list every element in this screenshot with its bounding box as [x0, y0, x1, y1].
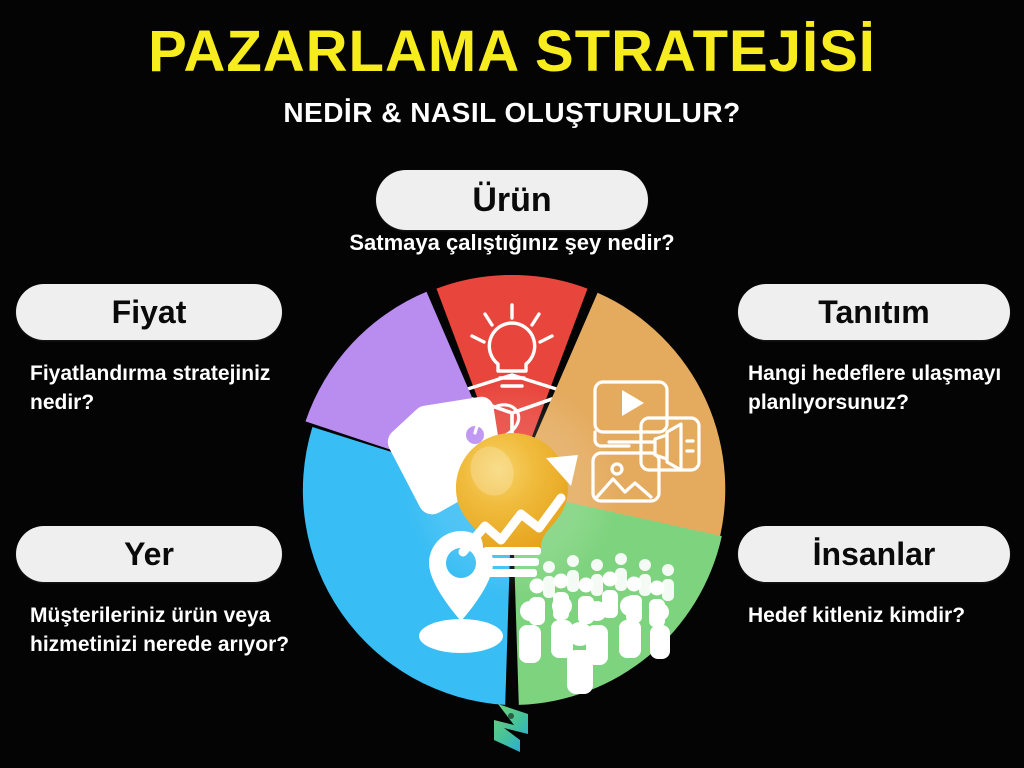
segment-description-fiyat: Fiyatlandırma stratejiniz nedir?: [30, 360, 310, 417]
segment-pill-label: Ürün: [472, 183, 551, 217]
segment-description-urun: Satmaya çalıştığınız şey nedir?: [0, 228, 1024, 258]
header: PAZARLAMA STRATEJİSİ NEDİR & NASIL OLUŞT…: [0, 0, 1024, 129]
segment-description-insanlar: Hedef kitleniz kimdir?: [748, 602, 1018, 631]
segment-pill-label: Tanıtım: [818, 296, 929, 328]
segment-pill-label: İnsanlar: [813, 538, 936, 570]
segment-pill-yer[interactable]: Yer: [16, 526, 282, 582]
segment-pill-insanlar[interactable]: İnsanlar: [738, 526, 1010, 582]
page-title: PAZARLAMA STRATEJİSİ: [0, 0, 1024, 83]
segment-description-tanitim: Hangi hedeflere ulaşmayı planlıyorsunuz?: [748, 360, 1018, 417]
marketing-mix-wheel: [297, 275, 727, 705]
page-subtitle: NEDİR & NASIL OLUŞTURULUR?: [0, 83, 1024, 129]
segment-pill-label: Fiyat: [112, 296, 187, 328]
segment-pill-fiyat[interactable]: Fiyat: [16, 284, 282, 340]
segment-pill-urun[interactable]: Ürün: [376, 170, 648, 230]
segment-pill-label: Yer: [124, 538, 174, 570]
segment-pill-tanitim[interactable]: Tanıtım: [738, 284, 1010, 340]
segment-description-yer: Müşterileriniz ürün veya hizmetinizi ner…: [30, 602, 320, 659]
brand-diamond-logo: [484, 700, 540, 762]
